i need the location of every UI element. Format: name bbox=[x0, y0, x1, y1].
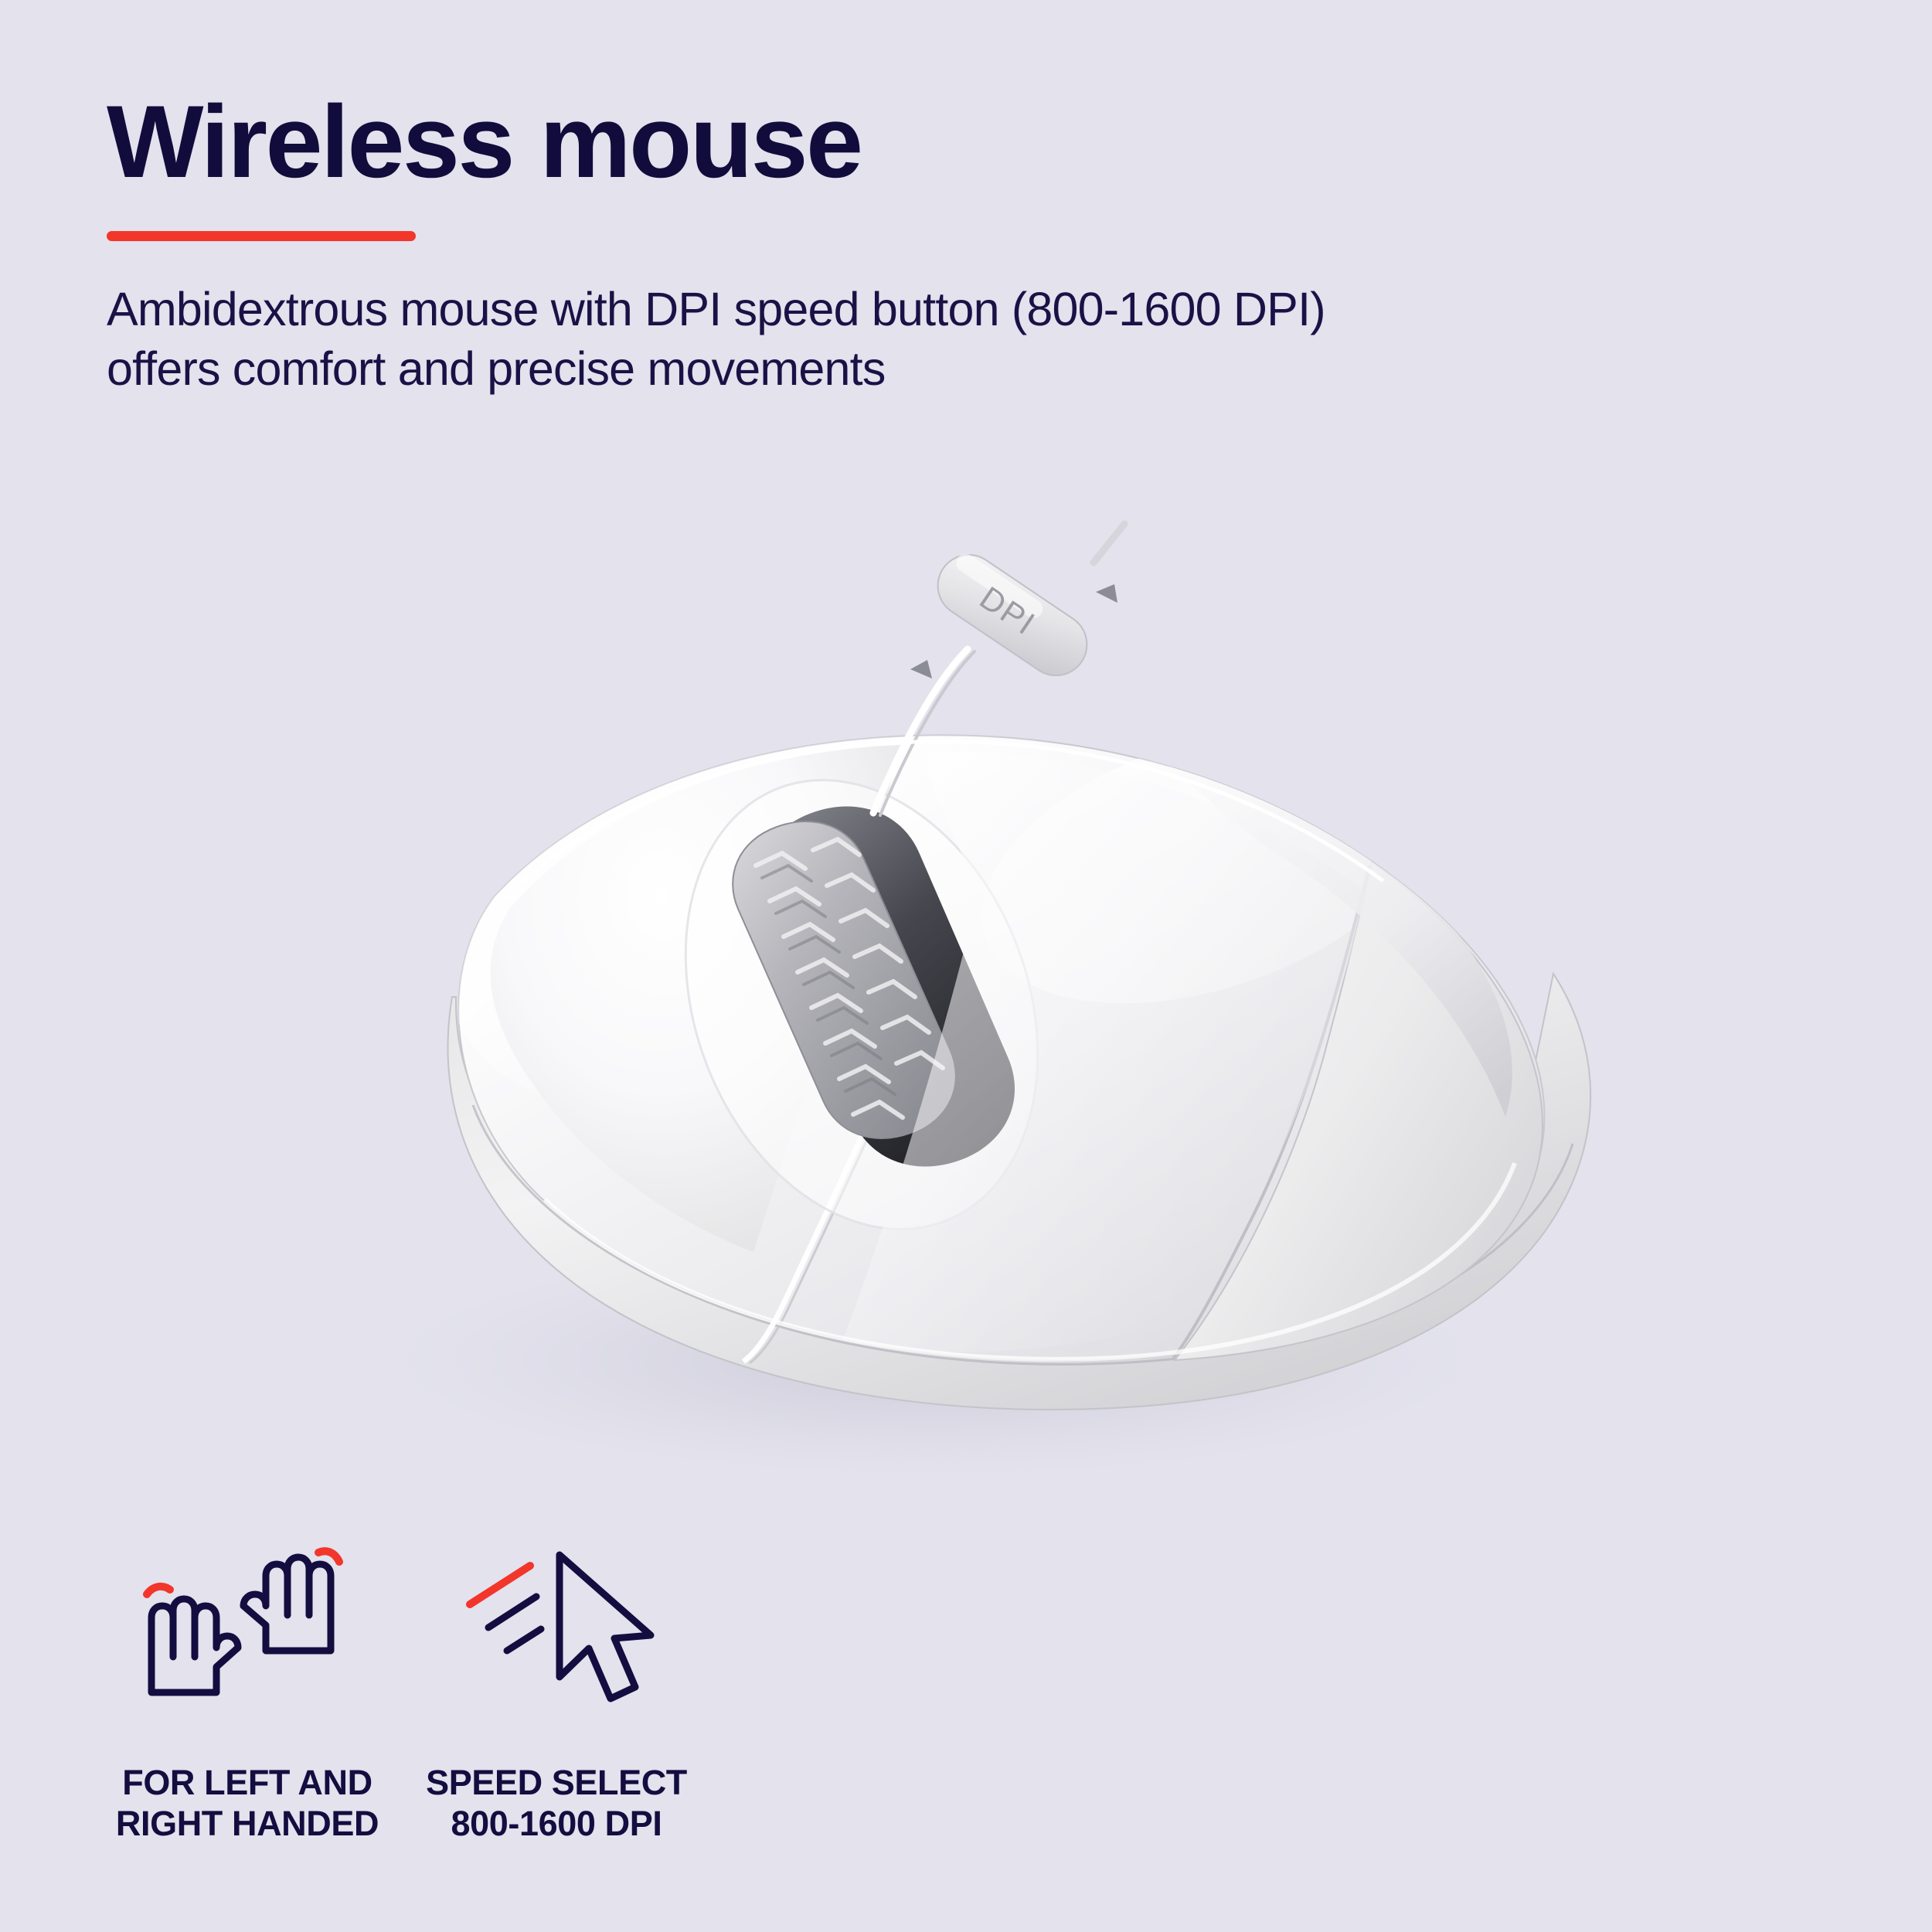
motion-line-1 bbox=[488, 1597, 536, 1628]
dpi-notch-right bbox=[1096, 584, 1117, 603]
dpi-button-stem bbox=[1094, 524, 1124, 563]
hand-left-accent-arc bbox=[147, 1587, 170, 1594]
feature-ambidextrous: FOR LEFT AND RIGHT HANDED bbox=[93, 1534, 402, 1844]
hand-right-shape bbox=[243, 1557, 331, 1651]
hand-right-accent-arc bbox=[318, 1551, 339, 1562]
hand-left-shape bbox=[151, 1599, 238, 1692]
product-banner: Wireless mouse Ambidextrous mouse with D… bbox=[0, 0, 1932, 1932]
cursor-arrow-speed-icon bbox=[444, 1534, 668, 1727]
feature-list: FOR LEFT AND RIGHT HANDED SPEED SELECT bbox=[93, 1534, 958, 1844]
feature-ambidextrous-label-line-2: RIGHT HANDED bbox=[116, 1804, 379, 1845]
dpi-notch-left bbox=[910, 660, 932, 679]
product-image: DPI bbox=[0, 464, 1932, 1484]
subtitle-line-2: offers comfort and precise movements bbox=[107, 339, 1791, 399]
motion-line-red bbox=[470, 1566, 530, 1604]
title-accent-rule bbox=[107, 231, 416, 241]
subtitle-line-1: Ambidextrous mouse with DPI speed button… bbox=[107, 280, 1791, 339]
cursor-arrow-shape bbox=[560, 1555, 651, 1699]
feature-speed-select: SPEED SELECT 800-1600 DPI bbox=[402, 1534, 711, 1844]
feature-speed-select-label-line-2: 800-1600 DPI bbox=[426, 1804, 687, 1845]
feature-speed-select-label: SPEED SELECT 800-1600 DPI bbox=[426, 1763, 687, 1844]
page-title: Wireless mouse bbox=[107, 91, 1807, 194]
header-block: Wireless mouse Ambidextrous mouse with D… bbox=[107, 91, 1807, 400]
feature-ambidextrous-label: FOR LEFT AND RIGHT HANDED bbox=[116, 1763, 379, 1844]
motion-line-2 bbox=[507, 1629, 541, 1651]
feature-ambidextrous-label-line-1: FOR LEFT AND bbox=[116, 1763, 379, 1804]
two-hands-icon bbox=[135, 1534, 359, 1727]
feature-speed-select-label-line-1: SPEED SELECT bbox=[426, 1763, 687, 1804]
subtitle: Ambidextrous mouse with DPI speed button… bbox=[107, 280, 1791, 400]
